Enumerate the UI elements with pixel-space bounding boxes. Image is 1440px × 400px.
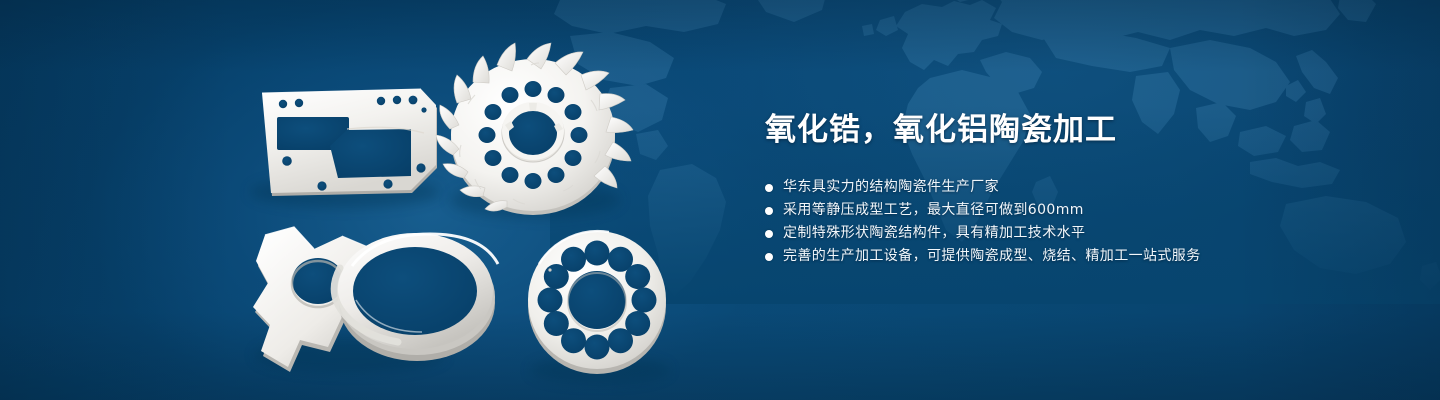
bullet-dot-icon bbox=[765, 184, 773, 192]
bullet-text: 华东具实力的结构陶瓷件生产厂家 bbox=[783, 176, 999, 199]
hero-banner: 氧化锆，氧化铝陶瓷加工 华东具实力的结构陶瓷件生产厂家 采用等静压成型工艺，最大… bbox=[0, 0, 1440, 400]
banner-text-block: 氧化锆，氧化铝陶瓷加工 华东具实力的结构陶瓷件生产厂家 采用等静压成型工艺，最大… bbox=[765, 108, 1405, 268]
banner-headline: 氧化锆，氧化铝陶瓷加工 bbox=[765, 108, 1405, 152]
ceramic-plate-part bbox=[262, 89, 437, 196]
list-item: 华东具实力的结构陶瓷件生产厂家 bbox=[765, 176, 1405, 199]
bullet-dot-icon bbox=[765, 207, 773, 215]
list-item: 定制特殊形状陶瓷结构件，具有精加工技术水平 bbox=[765, 222, 1405, 245]
banner-feature-list: 华东具实力的结构陶瓷件生产厂家 采用等静压成型工艺，最大直径可做到600mm 定… bbox=[765, 176, 1405, 268]
product-photo-group bbox=[0, 0, 720, 400]
ceramic-impeller-part bbox=[436, 43, 633, 215]
bullet-text: 完善的生产加工设备，可提供陶瓷成型、烧结、精加工一站式服务 bbox=[783, 245, 1201, 268]
bullet-dot-icon bbox=[765, 230, 773, 238]
bullet-dot-icon bbox=[765, 253, 773, 261]
list-item: 采用等静压成型工艺，最大直径可做到600mm bbox=[765, 199, 1405, 222]
list-item: 完善的生产加工设备，可提供陶瓷成型、烧结、精加工一站式服务 bbox=[765, 245, 1405, 268]
bullet-text: 采用等静压成型工艺，最大直径可做到600mm bbox=[783, 199, 1084, 222]
bullet-text: 定制特殊形状陶瓷结构件，具有精加工技术水平 bbox=[783, 222, 1085, 245]
ceramic-hole-ring-plate-part bbox=[528, 231, 666, 374]
